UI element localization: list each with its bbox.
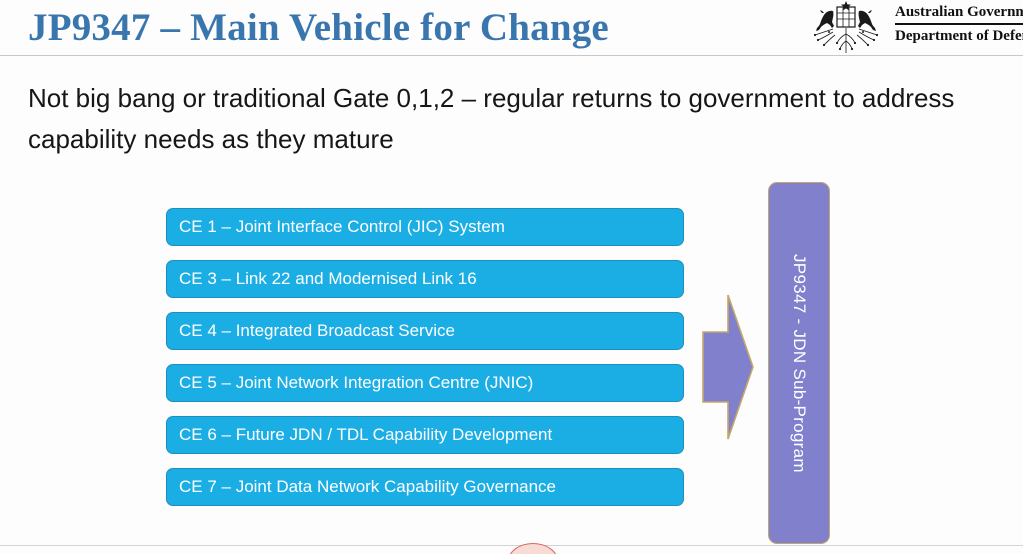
slide-header: JP9347 – Main Vehicle for Change bbox=[0, 0, 1023, 55]
ce-box-label: CE 4 – Integrated Broadcast Service bbox=[167, 321, 455, 341]
ce-box-label: CE 7 – Joint Data Network Capability Gov… bbox=[167, 477, 556, 497]
program-box: JP9347 - JDN Sub-Program bbox=[768, 182, 830, 544]
logo-line-department: Department of Defenc bbox=[895, 27, 1023, 46]
lead-paragraph: Not big bang or traditional Gate 0,1,2 –… bbox=[28, 78, 996, 160]
ce-box-label: CE 6 – Future JDN / TDL Capability Devel… bbox=[167, 425, 552, 445]
logo-line-government: Australian Governm bbox=[895, 3, 1023, 22]
right-arrow-icon bbox=[702, 294, 754, 440]
australian-coat-of-arms-icon bbox=[803, 1, 889, 53]
program-box-label: JP9347 - JDN Sub-Program bbox=[789, 254, 809, 473]
ce-box-label: CE 1 – Joint Interface Control (JIC) Sys… bbox=[167, 217, 505, 237]
ce-box: CE 6 – Future JDN / TDL Capability Devel… bbox=[166, 416, 684, 454]
ce-box-label: CE 3 – Link 22 and Modernised Link 16 bbox=[167, 269, 477, 289]
slide: JP9347 – Main Vehicle for Change bbox=[0, 0, 1023, 554]
capability-element-list: CE 1 – Joint Interface Control (JIC) Sys… bbox=[166, 208, 684, 520]
logo-lockup: Australian Governm Department of Defenc bbox=[803, 1, 1023, 55]
ce-box: CE 3 – Link 22 and Modernised Link 16 bbox=[166, 260, 684, 298]
ce-box: CE 4 – Integrated Broadcast Service bbox=[166, 312, 684, 350]
logo-text-block: Australian Governm Department of Defenc bbox=[895, 1, 1023, 46]
bottom-divider bbox=[0, 545, 1023, 546]
ce-box: CE 1 – Joint Interface Control (JIC) Sys… bbox=[166, 208, 684, 246]
page-title: JP9347 – Main Vehicle for Change bbox=[28, 6, 609, 50]
ce-box: CE 7 – Joint Data Network Capability Gov… bbox=[166, 468, 684, 506]
header-divider bbox=[0, 55, 1023, 56]
ce-box: CE 5 – Joint Network Integration Centre … bbox=[166, 364, 684, 402]
ce-box-label: CE 5 – Joint Network Integration Centre … bbox=[167, 373, 533, 393]
logo-divider bbox=[895, 23, 1023, 25]
